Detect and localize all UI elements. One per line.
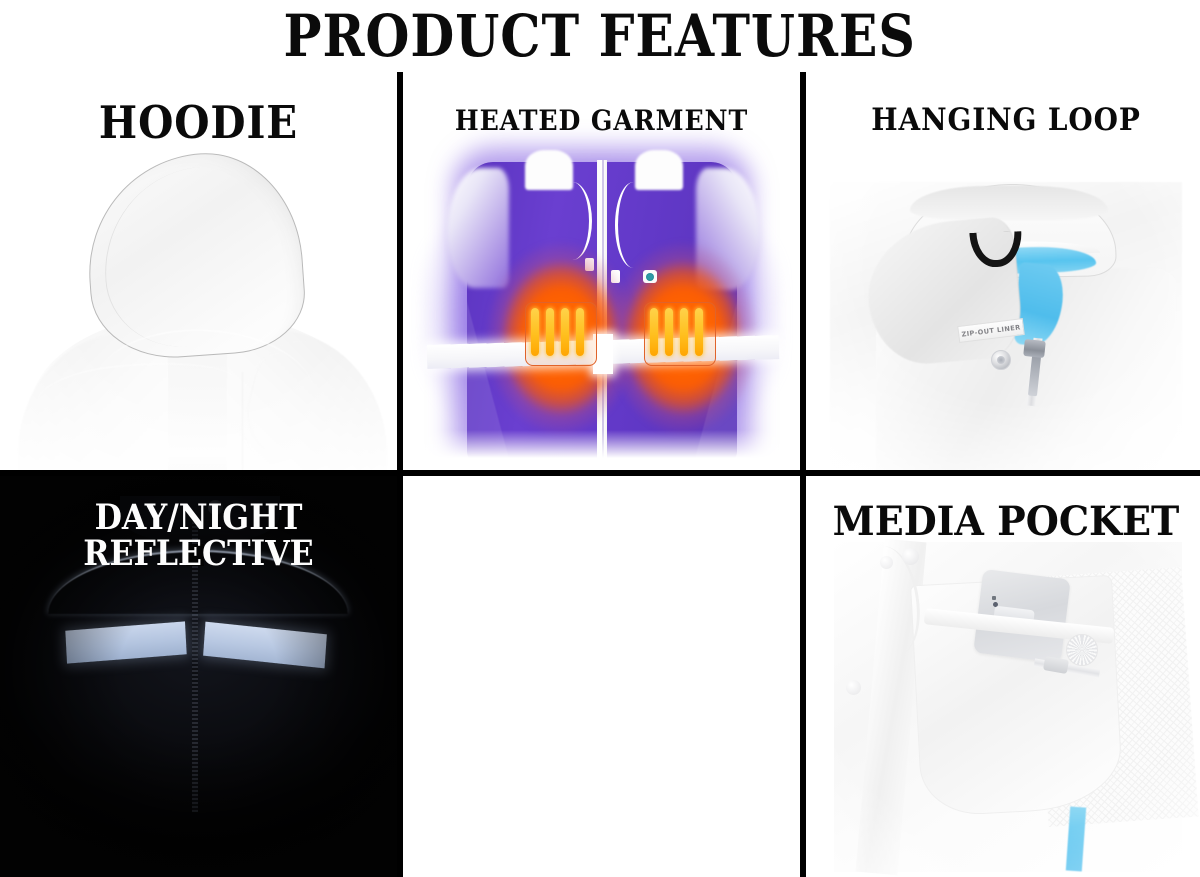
page-title: PRODUCT FEATURES [284, 4, 916, 68]
thermal-bottom-fade [403, 430, 800, 470]
heating-coil [531, 308, 539, 356]
heating-coil [695, 308, 703, 356]
cell-title-heated-garment: HEATED GARMENT [423, 104, 780, 137]
cell-title-hanging-loop: HANGING LOOP [826, 102, 1186, 138]
brand-badge-icon [643, 270, 657, 283]
title-bar: PRODUCT FEATURES [0, 0, 1200, 72]
feature-grid: HOODIE [0, 72, 1200, 877]
heating-coil [576, 308, 584, 356]
heating-coil [665, 308, 673, 356]
cell-title-media-pocket: MEDIA POCKET [816, 498, 1196, 545]
feature-cell-hanging-loop: ZIP-OUT LINER HANGING LOOP [806, 72, 1200, 470]
heating-coil [546, 308, 554, 356]
feature-cell-day-night-reflective: DAY/NIGHT REFLECTIVE [0, 476, 397, 877]
cell-title-day-night-reflective: DAY/NIGHT REFLECTIVE [20, 500, 377, 573]
product-features-infographic: PRODUCT FEATURES HOODIE [0, 0, 1200, 877]
heating-coil [680, 308, 688, 356]
feature-cell-heated-garment: HEATED GARMENT [403, 72, 800, 470]
heating-coil [561, 308, 569, 356]
feature-cell-hoodie: HOODIE [0, 72, 397, 470]
cell-title-hoodie: HOODIE [20, 96, 377, 149]
cell-title-line-1: DAY/NIGHT [95, 497, 303, 538]
cell-title-line-2: REFLECTIVE [83, 533, 313, 574]
feature-cell-media-pocket: MEDIA POCKET [806, 476, 1200, 877]
feature-cell-empty [403, 476, 800, 877]
heating-coil [650, 308, 658, 356]
